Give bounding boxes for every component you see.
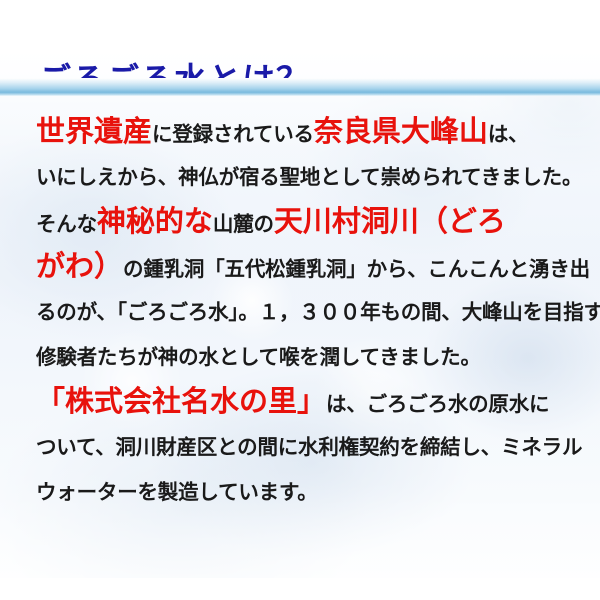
body-line: 「株式会社名水の里」は、ごろごろ水の原水に <box>36 380 576 425</box>
body-text: いにしえから、神仏が宿る聖地として崇められてきました。 <box>36 166 582 189</box>
body-text: は、 <box>488 123 529 146</box>
body-text: ウォーターを製造しています。 <box>36 481 318 504</box>
bottom-white-strip <box>0 578 600 600</box>
body-text: 修験者たちが神の水として喉を潤してきました。 <box>36 346 481 369</box>
body-text: は、ごろごろ水の原水に <box>326 393 549 416</box>
body-line: いにしえから、神仏が宿る聖地として崇められてきました。 <box>36 155 576 200</box>
body-line: るのが、「ごろごろ水」。１，３００年もの間、大峰山を目指す <box>36 290 576 335</box>
highlighted-text: 「株式会社名水の里」 <box>36 386 326 418</box>
highlighted-text: 奈良県大峰山 <box>314 116 488 148</box>
body-line: 世界遺産に登録されている奈良県大峰山は、 <box>36 110 576 155</box>
blue-divider-band <box>0 78 600 96</box>
body-line: ついて、洞川財産区との間に水利権契約を締結し、ミネラル <box>36 425 576 470</box>
body-text: 山麓の <box>213 213 274 236</box>
highlighted-text: 神秘的な <box>97 206 213 238</box>
body-line: 修験者たちが神の水として喉を潤してきました。 <box>36 335 576 380</box>
body-line: がわ）の鍾乳洞「五代松鍾乳洞」から、こんこんと湧き出 <box>36 245 576 290</box>
highlighted-text: 世界遺産 <box>36 116 152 148</box>
highlighted-text: がわ） <box>36 251 123 283</box>
body-text: に登録されている <box>152 123 314 146</box>
promo-banner: ごろごろ水とは？ 世界遺産に登録されている奈良県大峰山は、いにしえから、神仏が宿… <box>0 0 600 600</box>
body-line: ウォーターを製造しています。 <box>36 470 576 515</box>
body-copy: 世界遺産に登録されている奈良県大峰山は、いにしえから、神仏が宿る聖地として崇めら… <box>36 110 576 515</box>
body-text: の鍾乳洞「五代松鍾乳洞」から、こんこんと湧き出 <box>123 258 590 281</box>
body-text: そんな <box>36 213 97 236</box>
body-line: そんな神秘的な山麓の天川村洞川（どろ <box>36 200 576 245</box>
body-text: ついて、洞川財産区との間に水利権契約を締結し、ミネラル <box>36 436 582 459</box>
body-text: るのが、「ごろごろ水」。１，３００年もの間、大峰山を目指す <box>36 301 600 324</box>
highlighted-text: 天川村洞川（どろ <box>274 206 506 238</box>
